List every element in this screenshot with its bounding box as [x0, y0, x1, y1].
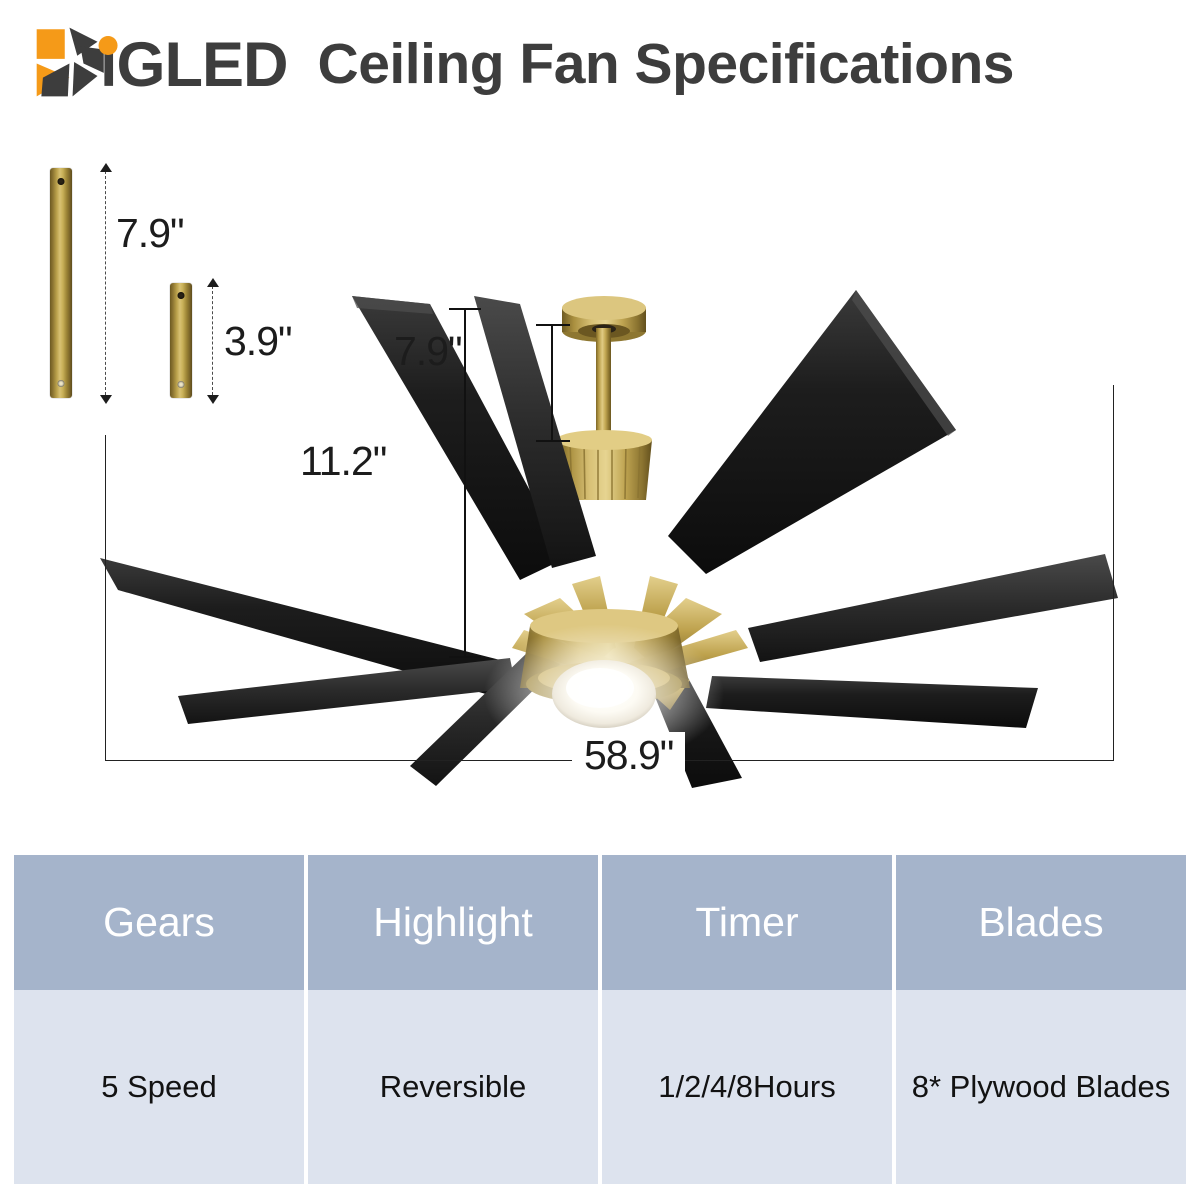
table-header-blades: Blades [896, 855, 1186, 990]
dim-label-total: 11.2" [300, 438, 386, 485]
aperture-logo-icon [32, 23, 110, 101]
dim-cap-downrod-top [536, 324, 570, 326]
page-title: Ceiling Fan Specifications [318, 36, 1014, 93]
table-cell-blades: 8* Plywood Blades [896, 990, 1186, 1184]
span-guide-left [105, 435, 106, 760]
brand-text: iGLED [100, 30, 288, 100]
ceiling-fan-diagram: 7.9" 3.9" [0, 128, 1200, 840]
table-header-row: Gears Highlight Timer Blades [14, 855, 1186, 990]
span-line-right [680, 760, 1114, 761]
table-header-gears: Gears [14, 855, 304, 990]
dim-cap-total-bottom [449, 656, 481, 658]
brand-wordmark: iGLED [100, 34, 288, 97]
specification-table: Gears Highlight Timer Blades 5 Speed Rev… [10, 855, 1190, 1184]
dim-label-downrod: 7.9" [394, 328, 462, 375]
dim-line-downrod [551, 324, 553, 440]
table-row: 5 Speed Reversible 1/2/4/8Hours 8* Plywo… [14, 990, 1186, 1184]
table-header-timer: Timer [602, 855, 892, 990]
span-guide-right [1113, 385, 1114, 760]
table-cell-timer: 1/2/4/8Hours [602, 990, 892, 1184]
table-cell-gears: 5 Speed [14, 990, 304, 1184]
page-header: iGLED Ceiling Fan Specifications [0, 0, 1200, 128]
dim-line-total [464, 308, 466, 656]
table-header-highlight: Highlight [308, 855, 598, 990]
dim-cap-downrod-bottom [536, 440, 570, 442]
table-cell-highlight: Reversible [308, 990, 598, 1184]
dim-label-span: 58.9" [572, 732, 685, 779]
